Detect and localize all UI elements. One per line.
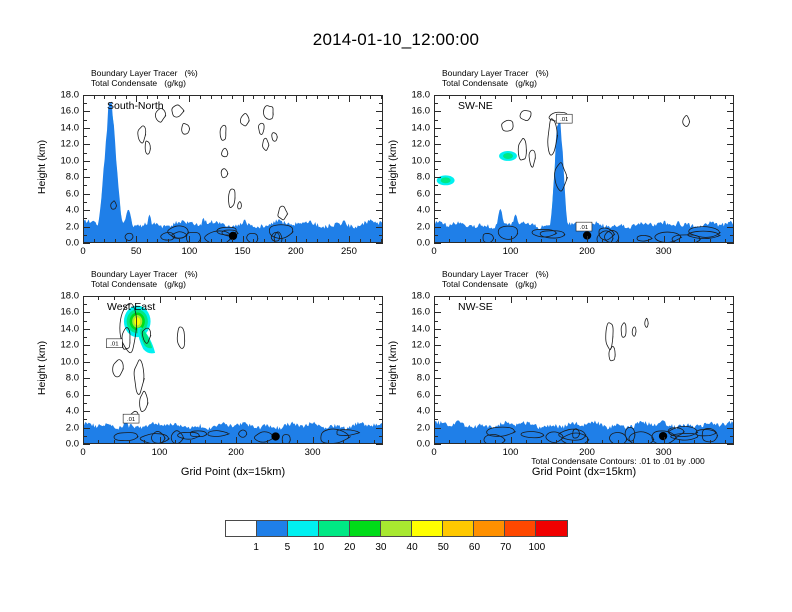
svg-text:.01: .01 <box>110 341 118 347</box>
svg-text:.01: .01 <box>560 117 568 123</box>
y-tick-label: 0.0 <box>392 439 430 450</box>
colorbar-tick-label: 10 <box>313 542 324 553</box>
y-axis-title-south-north: Height (km) <box>36 132 48 202</box>
panel-header-south-north: Boundary Layer Tracer (%)Total Condensat… <box>91 68 198 88</box>
y-axis-title-nw-se: Height (km) <box>387 333 399 403</box>
colorbar-cell <box>226 521 257 536</box>
x-axis-title-bottom-left: Grid Point (dx=15km) <box>181 466 285 478</box>
plot-area-sw-ne: .01.01 <box>435 96 733 242</box>
colorbar-tick-label: 30 <box>375 542 386 553</box>
x-tick-label: 0 <box>80 246 85 257</box>
colorbar-cell <box>257 521 288 536</box>
header-tracer-line: Boundary Layer Tracer (%) <box>442 68 549 78</box>
svg-text:.01: .01 <box>127 417 135 423</box>
plot-area-south-north <box>84 96 382 242</box>
header-tracer-line: Boundary Layer Tracer (%) <box>91 269 198 279</box>
y-tick-label: 4.0 <box>392 406 430 417</box>
x-tick-label: 250 <box>341 246 357 257</box>
plot-frame-west-east: .01.01 <box>83 296 383 444</box>
colorbar-tick-label: 5 <box>285 542 291 553</box>
header-condensate-line: Total Condensate (g/kg) <box>442 78 549 88</box>
y-tick-label: 0.0 <box>41 439 79 450</box>
x-tick-label: 100 <box>181 246 197 257</box>
plot-frame-south-north <box>83 95 383 243</box>
condensate-contours: .01.01 <box>483 110 721 242</box>
panel-header-west-east: Boundary Layer Tracer (%)Total Condensat… <box>91 269 198 289</box>
x-axis-title-bottom-right: Grid Point (dx=15km) <box>532 466 636 478</box>
x-tick-label: 100 <box>503 447 519 458</box>
y-tick-label: 2.0 <box>392 221 430 232</box>
contour-note: Total Condensate Contours: .01 to .01 by… <box>531 456 704 466</box>
y-tick-label: 4.0 <box>392 205 430 216</box>
y-tick-label: 2.0 <box>41 422 79 433</box>
y-tick-label: 16.0 <box>41 106 79 117</box>
plot-frame-nw-se <box>434 296 734 444</box>
colorbar-cell <box>288 521 319 536</box>
y-tick-label: 18.0 <box>41 90 79 101</box>
colorbar-tick-label: 1 <box>253 542 259 553</box>
header-tracer-line: Boundary Layer Tracer (%) <box>442 269 549 279</box>
y-tick-label: 4.0 <box>41 205 79 216</box>
panel-header-nw-se: Boundary Layer Tracer (%)Total Condensat… <box>442 269 549 289</box>
header-tracer-line: Boundary Layer Tracer (%) <box>91 68 198 78</box>
colorbar-tick-label: 100 <box>528 542 545 553</box>
plot-frame-sw-ne: .01.01 <box>434 95 734 243</box>
x-tick-label: 200 <box>288 246 304 257</box>
plot-area-nw-se <box>435 297 733 443</box>
colorbar-cell <box>505 521 536 536</box>
x-tick-label: 100 <box>152 447 168 458</box>
filled-tracer-field <box>84 101 382 242</box>
colorbar-cell <box>536 521 567 536</box>
y-tick-label: 16.0 <box>392 106 430 117</box>
x-tick-label: 50 <box>131 246 142 257</box>
colorbar-cell <box>381 521 412 536</box>
colorbar-tick-label: 40 <box>407 542 418 553</box>
panel-label-south-north: South-North <box>107 100 164 112</box>
x-tick-label: 0 <box>431 447 436 458</box>
y-tick-label: 0.0 <box>392 238 430 249</box>
colorbar-cell <box>319 521 350 536</box>
svg-text:.01: .01 <box>580 225 588 231</box>
y-axis-title-west-east: Height (km) <box>36 333 48 403</box>
y-tick-label: 16.0 <box>392 307 430 318</box>
x-tick-label: 300 <box>656 246 672 257</box>
colorbar-tick-label: 50 <box>438 542 449 553</box>
panel-header-sw-ne: Boundary Layer Tracer (%)Total Condensat… <box>442 68 549 88</box>
y-tick-label: 18.0 <box>41 291 79 302</box>
colorbar-cell <box>350 521 381 536</box>
condensate-contours <box>111 105 294 242</box>
header-condensate-line: Total Condensate (g/kg) <box>91 279 198 289</box>
panel-label-nw-se: NW-SE <box>458 301 493 313</box>
colorbar-tick-label: 20 <box>344 542 355 553</box>
header-condensate-line: Total Condensate (g/kg) <box>442 279 549 289</box>
y-tick-label: 2.0 <box>41 221 79 232</box>
x-tick-label: 200 <box>579 246 595 257</box>
panel-label-west-east: West-East <box>107 301 155 313</box>
y-tick-label: 0.0 <box>41 238 79 249</box>
x-tick-label: 300 <box>305 447 321 458</box>
colorbar-cell <box>443 521 474 536</box>
x-tick-label: 0 <box>80 447 85 458</box>
x-tick-label: 200 <box>228 447 244 458</box>
y-tick-label: 18.0 <box>392 90 430 101</box>
colorbar-tick-label: 70 <box>500 542 511 553</box>
panel-label-sw-ne: SW-NE <box>458 100 493 112</box>
y-tick-label: 2.0 <box>392 422 430 433</box>
y-tick-label: 4.0 <box>41 406 79 417</box>
header-condensate-line: Total Condensate (g/kg) <box>91 78 198 88</box>
y-tick-label: 16.0 <box>41 307 79 318</box>
x-tick-label: 0 <box>431 246 436 257</box>
plot-area-west-east: .01.01 <box>84 297 382 443</box>
colorbar-tick-label: 60 <box>469 542 480 553</box>
colorbar-strip <box>225 520 568 537</box>
figure-title: 2014-01-10_12:00:00 <box>0 30 792 50</box>
x-tick-label: 150 <box>235 246 251 257</box>
y-axis-title-sw-ne: Height (km) <box>387 132 399 202</box>
x-tick-label: 100 <box>503 246 519 257</box>
colorbar-cell <box>474 521 505 536</box>
figure-canvas: 2014-01-10_12:00:00 Boundary Layer Trace… <box>0 0 792 612</box>
colorbar-cell <box>412 521 443 536</box>
y-tick-label: 18.0 <box>392 291 430 302</box>
